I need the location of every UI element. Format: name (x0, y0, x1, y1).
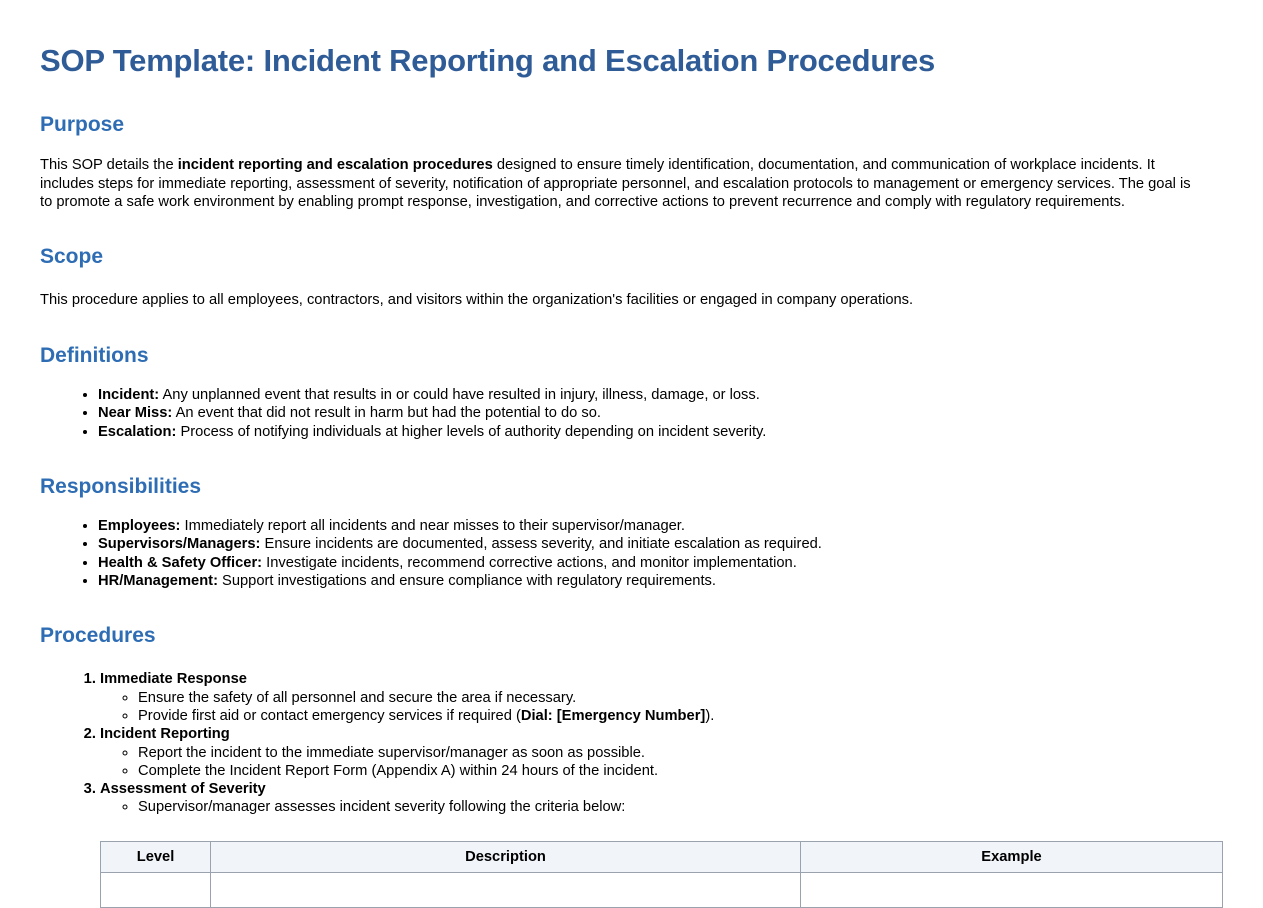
cell-description (211, 872, 801, 907)
substep-text-tail: ). (705, 708, 714, 724)
list-item: Supervisors/Managers: Ensure incidents a… (98, 535, 1223, 553)
definition-text: An event that did not result in harm but… (172, 405, 601, 421)
responsibility-text: Immediately report all incidents and nea… (180, 518, 685, 534)
section-heading-procedures: Procedures (40, 623, 1223, 648)
purpose-text-lead: This SOP details the (40, 157, 178, 173)
procedure-substep: Provide first aid or contact emergency s… (138, 707, 1223, 725)
list-item: HR/Management: Support investigations an… (98, 572, 1223, 590)
purpose-text-emphasis: incident reporting and escalation proced… (178, 157, 493, 173)
table-body (101, 872, 1223, 907)
substep-text: Supervisor/manager assesses incident sev… (138, 799, 625, 815)
definition-text: Process of notifying individuals at high… (176, 424, 766, 440)
procedure-substep: Supervisor/manager assesses incident sev… (138, 798, 1223, 816)
substep-text: Complete the Incident Report Form (Appen… (138, 763, 658, 779)
responsibility-role: Supervisors/Managers: (98, 536, 260, 552)
substep-emphasis: Dial: [Emergency Number] (521, 708, 705, 724)
responsibility-role: HR/Management: (98, 573, 218, 589)
table-row (101, 872, 1223, 907)
section-heading-definitions: Definitions (40, 343, 1223, 368)
definition-text: Any unplanned event that results in or c… (159, 387, 760, 403)
cell-example (801, 872, 1223, 907)
section-heading-scope: Scope (40, 244, 1223, 269)
responsibility-role: Employees: (98, 518, 180, 534)
definition-term: Near Miss: (98, 405, 172, 421)
column-header-description: Description (211, 841, 801, 872)
section-heading-responsibilities: Responsibilities (40, 474, 1223, 499)
table-header: Level Description Example (101, 841, 1223, 872)
procedure-step: Incident Reporting Report the incident t… (100, 725, 1223, 780)
responsibilities-list: Employees: Immediately report all incide… (40, 517, 1223, 590)
substep-text: Provide first aid or contact emergency s… (138, 708, 521, 724)
list-item: Employees: Immediately report all incide… (98, 517, 1223, 535)
list-item: Escalation: Process of notifying individ… (98, 423, 1223, 441)
section-heading-purpose: Purpose (40, 112, 1223, 137)
column-header-example: Example (801, 841, 1223, 872)
procedures-list: Immediate Response Ensure the safety of … (40, 670, 1223, 816)
list-item: Health & Safety Officer: Investigate inc… (98, 554, 1223, 572)
procedure-substep: Complete the Incident Report Form (Appen… (138, 762, 1223, 780)
cell-level (101, 872, 211, 907)
procedure-step-title: Assessment of Severity (100, 781, 266, 797)
purpose-paragraph: This SOP details the incident reporting … (40, 156, 1200, 211)
severity-criteria-table: Level Description Example (100, 841, 1223, 908)
responsibility-text: Support investigations and ensure compli… (218, 573, 716, 589)
list-item: Incident: Any unplanned event that resul… (98, 386, 1223, 404)
definition-term: Incident: (98, 387, 159, 403)
definitions-list: Incident: Any unplanned event that resul… (40, 386, 1223, 441)
definition-term: Escalation: (98, 424, 176, 440)
list-item: Near Miss: An event that did not result … (98, 404, 1223, 422)
procedure-step: Assessment of Severity Supervisor/manage… (100, 780, 1223, 817)
document-page: SOP Template: Incident Reporting and Esc… (0, 0, 1263, 908)
responsibility-role: Health & Safety Officer: (98, 555, 262, 571)
procedure-substep-list: Supervisor/manager assesses incident sev… (100, 798, 1223, 816)
procedure-substep-list: Ensure the safety of all personnel and s… (100, 689, 1223, 726)
substep-text: Ensure the safety of all personnel and s… (138, 690, 576, 706)
procedure-substep-list: Report the incident to the immediate sup… (100, 744, 1223, 781)
scope-paragraph: This procedure applies to all employees,… (40, 291, 1200, 309)
column-header-level: Level (101, 841, 211, 872)
substep-text: Report the incident to the immediate sup… (138, 745, 645, 761)
procedure-step: Immediate Response Ensure the safety of … (100, 670, 1223, 725)
procedure-step-title: Incident Reporting (100, 726, 230, 742)
page-title: SOP Template: Incident Reporting and Esc… (40, 42, 1223, 79)
procedure-step-title: Immediate Response (100, 671, 247, 687)
procedure-substep: Ensure the safety of all personnel and s… (138, 689, 1223, 707)
table-header-row: Level Description Example (101, 841, 1223, 872)
procedure-substep: Report the incident to the immediate sup… (138, 744, 1223, 762)
responsibility-text: Ensure incidents are documented, assess … (260, 536, 821, 552)
responsibility-text: Investigate incidents, recommend correct… (262, 555, 797, 571)
